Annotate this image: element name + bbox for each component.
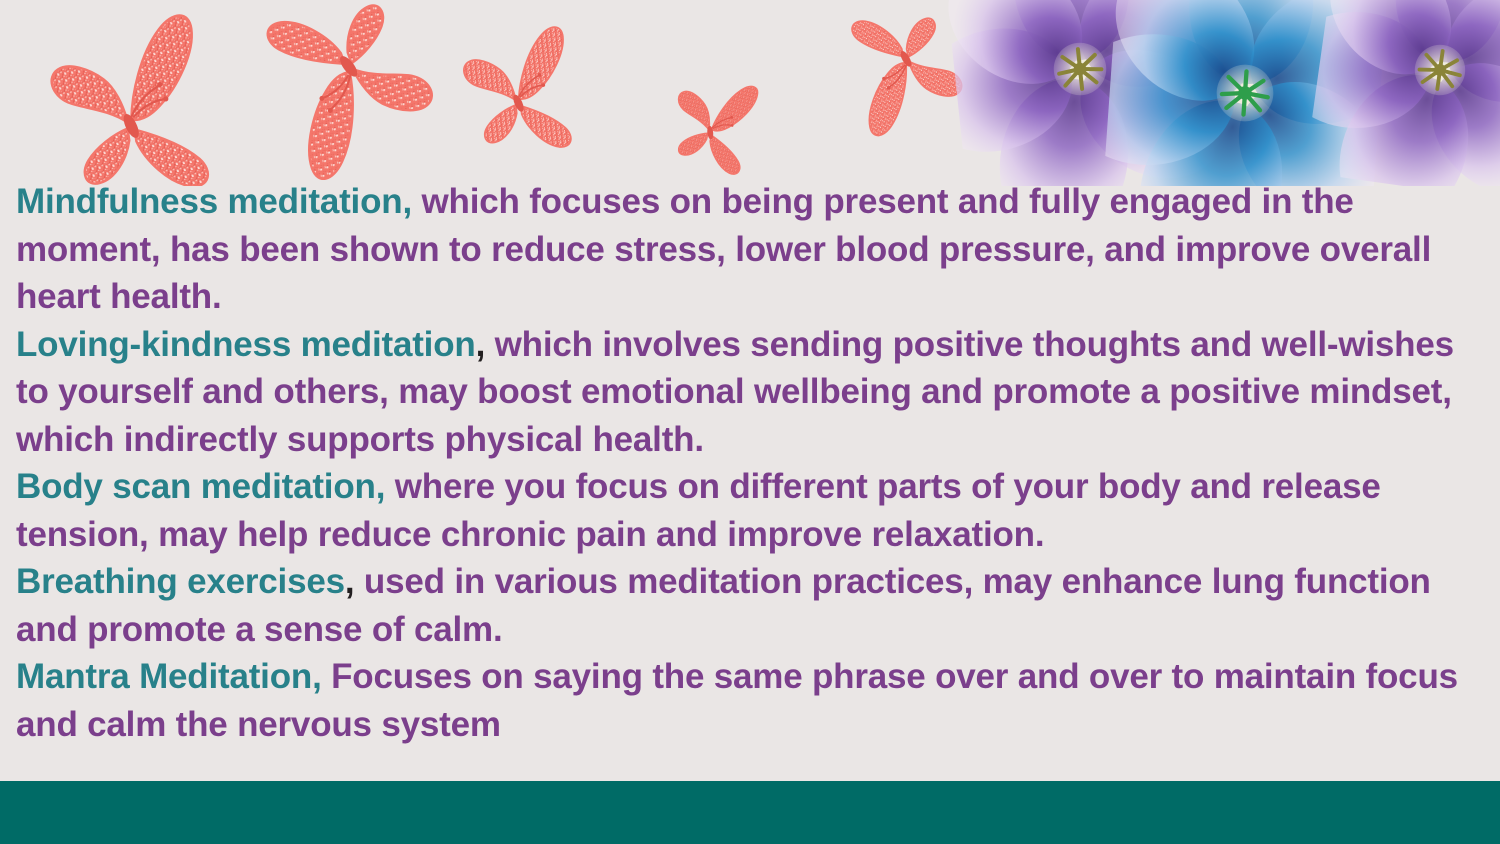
decorative-header-band [0,0,1500,186]
butterfly-5-icon [827,0,987,150]
lead-separator: , [402,182,412,221]
paragraph-mantra-meditation: Mantra Meditation, Focuses on saying the… [16,653,1484,748]
lead-separator: , [376,467,386,506]
lead-separator: , [476,325,486,364]
butterfly-2-icon [231,0,475,186]
footer-accent-bar [0,781,1500,844]
lead-term: Body scan meditation [16,467,376,506]
lead-separator: , [312,657,322,696]
paragraph-body-scan-meditation: Body scan meditation, where you focus on… [16,463,1484,558]
flower-blue-center-icon [1101,0,1389,186]
paragraph-breathing-exercises: Breathing exercises, used in various med… [16,558,1484,653]
lead-separator: , [345,562,355,601]
lead-term: Loving-kindness meditation [16,325,476,364]
butterfly-3-icon [441,15,595,169]
slide-canvas: Mindfulness meditation, which focuses on… [0,0,1500,844]
paragraph-loving-kindness-meditation: Loving-kindness meditation, which involv… [16,321,1484,464]
lead-term: Mantra Meditation [16,657,312,696]
lead-term: Breathing exercises [16,562,345,601]
flower-purple-right-icon [1304,0,1500,186]
flower-purple-left-icon [943,0,1218,186]
paragraph-mindfulness-meditation: Mindfulness meditation, which focuses on… [16,178,1484,321]
slide-body-text: Mindfulness meditation, which focuses on… [0,178,1500,748]
lead-term: Mindfulness meditation [16,182,402,221]
butterfly-4-icon [650,62,775,186]
butterfly-1-icon [17,0,243,186]
